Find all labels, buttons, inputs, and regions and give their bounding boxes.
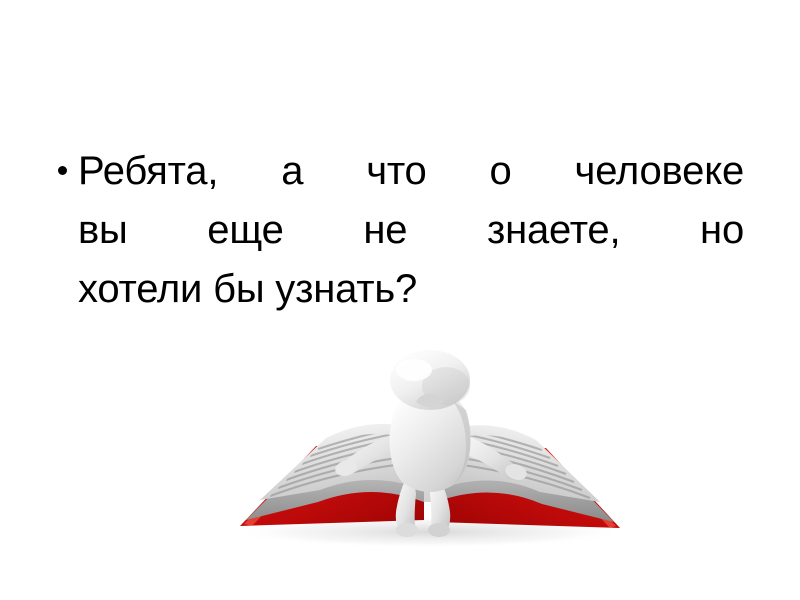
paragraph-line-1: Ребята, а что о человеке	[78, 142, 744, 201]
illustration-3d-figure-at-open-book	[200, 350, 660, 565]
slide-text-block: Ребята, а что о человеке вы еще не знает…	[58, 142, 744, 318]
figure-head-highlight	[396, 359, 432, 381]
figure-left-foot	[396, 523, 418, 537]
figure-right-foot	[428, 523, 450, 537]
paragraph-line-2: вы еще не знаете, но	[78, 201, 744, 260]
slide-canvas: Ребята, а что о человеке вы еще не знает…	[0, 0, 800, 600]
bullet-list-item: Ребята, а что о человеке вы еще не знает…	[58, 142, 744, 318]
bullet-point-icon	[58, 166, 67, 175]
slide-paragraph: Ребята, а что о человеке вы еще не знает…	[58, 142, 744, 318]
paragraph-line-3: хотели бы узнать?	[78, 260, 744, 319]
